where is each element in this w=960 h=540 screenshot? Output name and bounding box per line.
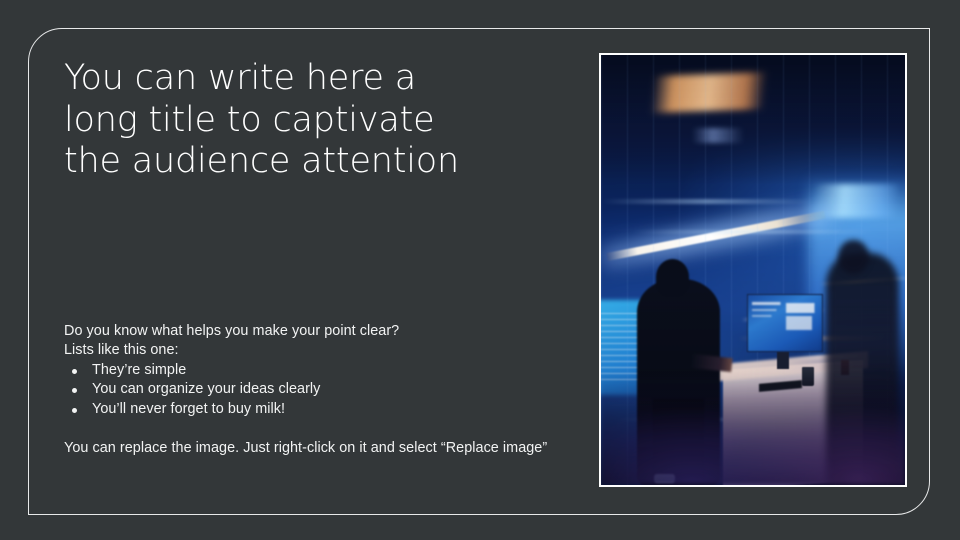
text-content-column: You can write here a long title to capti…: [64, 58, 576, 478]
bullet-dot-icon: [72, 388, 77, 393]
list-item-label: You’ll never forget to buy milk!: [92, 401, 285, 417]
body-copy-block: Do you know what helps you make your poi…: [64, 322, 576, 459]
image-replace-note: You can replace the image. Just right-cl…: [64, 439, 574, 459]
list-item-label: They’re simple: [92, 362, 186, 378]
page-title: You can write here a long title to capti…: [64, 58, 576, 183]
office-photo: [601, 55, 905, 485]
image-replace-note-block: You can replace the image. Just right-cl…: [64, 439, 576, 459]
body-lead-line-2: Lists like this one:: [64, 341, 576, 360]
slide-image-placeholder[interactable]: [599, 53, 907, 487]
bullet-dot-icon: [72, 408, 77, 413]
list-item: You can organize your ideas clearly: [64, 380, 576, 399]
list-item-label: You can organize your ideas clearly: [92, 381, 320, 397]
bullet-list: They’re simple You can organize your ide…: [64, 361, 576, 419]
bullet-dot-icon: [72, 369, 77, 374]
list-item: You’ll never forget to buy milk!: [64, 400, 576, 419]
body-lead-line-1: Do you know what helps you make your poi…: [64, 322, 576, 341]
photo-motion-blur-overlay: [601, 55, 905, 485]
list-item: They’re simple: [64, 361, 576, 380]
